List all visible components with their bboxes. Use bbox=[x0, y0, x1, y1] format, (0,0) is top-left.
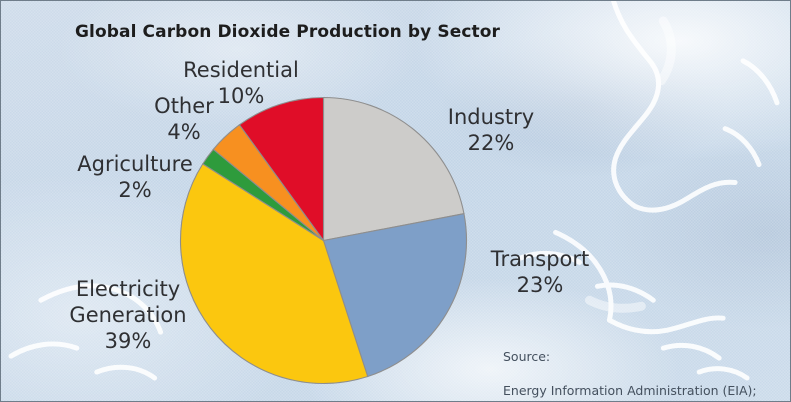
pie-label-electricity-generation: Electricity Generation 39% bbox=[63, 276, 193, 354]
source-line-organization: Energy Information Administration (EIA); bbox=[503, 382, 757, 399]
source-line-label: Source: bbox=[503, 348, 757, 365]
pie-label-agriculture: Agriculture 2% bbox=[73, 151, 197, 203]
page-title: Global Carbon Dioxide Production by Sect… bbox=[75, 22, 500, 42]
pie-label-transport: Transport 23% bbox=[483, 246, 597, 298]
source-attribution: Source: Energy Information Administratio… bbox=[503, 331, 757, 402]
chart-figure: Global Carbon Dioxide Production by Sect… bbox=[0, 0, 791, 402]
pie-label-industry: Industry 22% bbox=[436, 104, 546, 156]
pie-label-other: Other 4% bbox=[141, 93, 227, 145]
